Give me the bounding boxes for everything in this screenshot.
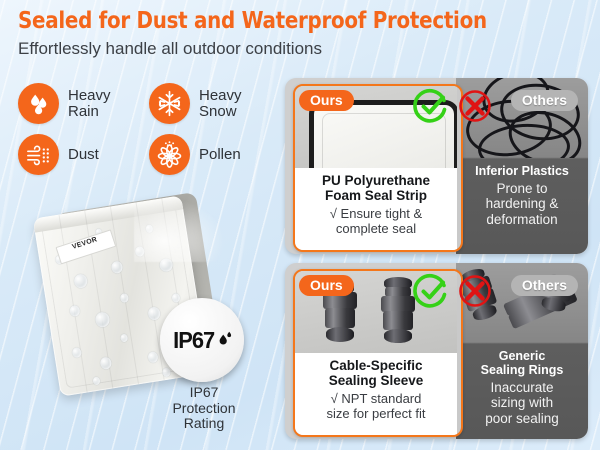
- feature-label: HeavyRain: [68, 88, 111, 120]
- feature-item-pollen: Pollen: [149, 134, 280, 175]
- ip67-badge: IP67: [160, 298, 244, 382]
- ours-badge: Ours: [299, 275, 354, 296]
- product-image: VEVOR IP67 IP67 Protection Rating: [42, 196, 227, 411]
- comparison-panel-sealing-sleeve: Generic Sealing Rings Inaccurate sizing …: [285, 263, 588, 439]
- feature-label: Dust: [68, 147, 99, 163]
- feature-row: Dust: [18, 134, 280, 175]
- promo-banner: Sealed for Dust and Waterproof Protectio…: [0, 0, 600, 450]
- ip67-badge-text: IP67: [173, 327, 214, 354]
- snowflake-icon: [149, 83, 190, 124]
- others-subtext: Inaccurate sizing with poor sealing: [456, 380, 588, 426]
- feature-item-dust: Dust: [18, 134, 149, 175]
- ours-caption: Cable-Specific Sealing Sleeve √ NPT stan…: [295, 353, 457, 435]
- ours-title: Cable-Specific Sealing Sleeve: [295, 358, 457, 389]
- pollen-flower-icon: [149, 134, 190, 175]
- ours-title: PU Polyurethane Foam Seal Strip: [295, 173, 457, 204]
- water-drop-icon: [217, 330, 232, 350]
- cross-icon: [457, 273, 493, 309]
- feature-label: HeavySnow: [199, 88, 242, 120]
- cross-icon: [457, 88, 493, 124]
- wind-dust-icon: [18, 134, 59, 175]
- feature-icon-grid: HeavyRain HeavySnow: [18, 83, 280, 185]
- others-badge: Others: [511, 275, 578, 296]
- ours-caption: PU Polyurethane Foam Seal Strip √ Ensure…: [295, 168, 457, 250]
- ip67-rating-caption: IP67 Protection Rating: [165, 385, 243, 432]
- water-splash: [134, 192, 234, 262]
- ours-badge: Ours: [299, 90, 354, 111]
- header: Sealed for Dust and Waterproof Protectio…: [18, 8, 578, 58]
- others-title: Generic Sealing Rings: [456, 349, 588, 377]
- ours-subtext: √ Ensure tight & complete seal: [295, 207, 457, 237]
- comparison-panel-seal-strip: Inferior Plastics Prone to hardening & d…: [285, 78, 588, 254]
- page-subtitle: Effortlessly handle all outdoor conditio…: [18, 39, 578, 59]
- water-drops-icon: [18, 83, 59, 124]
- page-title: Sealed for Dust and Waterproof Protectio…: [18, 8, 544, 34]
- others-badge: Others: [511, 90, 578, 111]
- check-icon: [413, 88, 449, 124]
- others-title: Inferior Plastics: [456, 164, 588, 178]
- check-icon: [413, 273, 449, 309]
- others-subtext: Prone to hardening & deformation: [456, 181, 588, 227]
- ours-subtext: √ NPT standard size for perfect fit: [295, 392, 457, 422]
- comparison-panels: Inferior Plastics Prone to hardening & d…: [285, 78, 588, 448]
- feature-label: Pollen: [199, 147, 241, 163]
- feature-item-heavy-rain: HeavyRain: [18, 83, 149, 124]
- feature-row: HeavyRain HeavySnow: [18, 83, 280, 124]
- feature-item-heavy-snow: HeavySnow: [149, 83, 280, 124]
- others-caption: Generic Sealing Rings Inaccurate sizing …: [456, 343, 588, 439]
- others-caption: Inferior Plastics Prone to hardening & d…: [456, 158, 588, 254]
